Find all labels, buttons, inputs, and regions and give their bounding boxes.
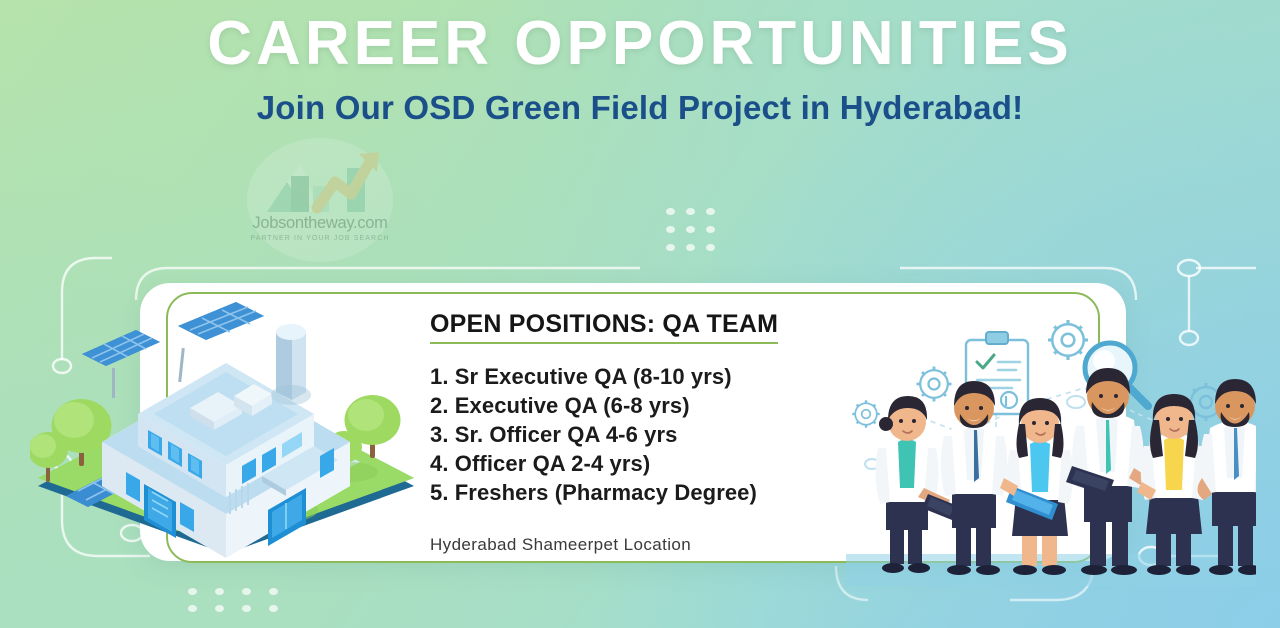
list-item: 2. Executive QA (6-8 yrs) <box>430 391 860 420</box>
watermark-logo: Jobsontheway.com PARTNER IN YOUR JOB SEA… <box>231 142 409 262</box>
page-subtitle: Join Our OSD Green Field Project in Hyde… <box>0 89 1280 127</box>
watermark-name: Jobsontheway.com <box>231 214 409 233</box>
open-positions-heading: OPEN POSITIONS: QA TEAM <box>430 310 778 344</box>
dot-grid-top <box>666 208 715 251</box>
medical-team-illustration <box>846 318 1256 591</box>
page-title: CAREER OPPORTUNITIES <box>0 12 1280 75</box>
positions-list: 1. Sr Executive QA (8-10 yrs) 2. Executi… <box>430 362 860 507</box>
dot-grid-bottom <box>188 588 278 612</box>
list-item: 3. Sr. Officer QA 4-6 yrs <box>430 420 860 449</box>
list-item: 5. Freshers (Pharmacy Degree) <box>430 478 860 507</box>
green-factory-illustration <box>30 296 420 565</box>
list-item: 1. Sr Executive QA (8-10 yrs) <box>430 362 860 391</box>
watermark-tagline: PARTNER IN YOUR JOB SEARCH <box>231 235 409 242</box>
card-content: OPEN POSITIONS: QA TEAM 1. Sr Executive … <box>430 310 860 555</box>
header: CAREER OPPORTUNITIES Join Our OSD Green … <box>0 12 1280 127</box>
location-text: Hyderabad Shameerpet Location <box>430 535 860 555</box>
list-item: 4. Officer QA 2-4 yrs) <box>430 449 860 478</box>
watermark-chart-icon <box>231 142 409 216</box>
